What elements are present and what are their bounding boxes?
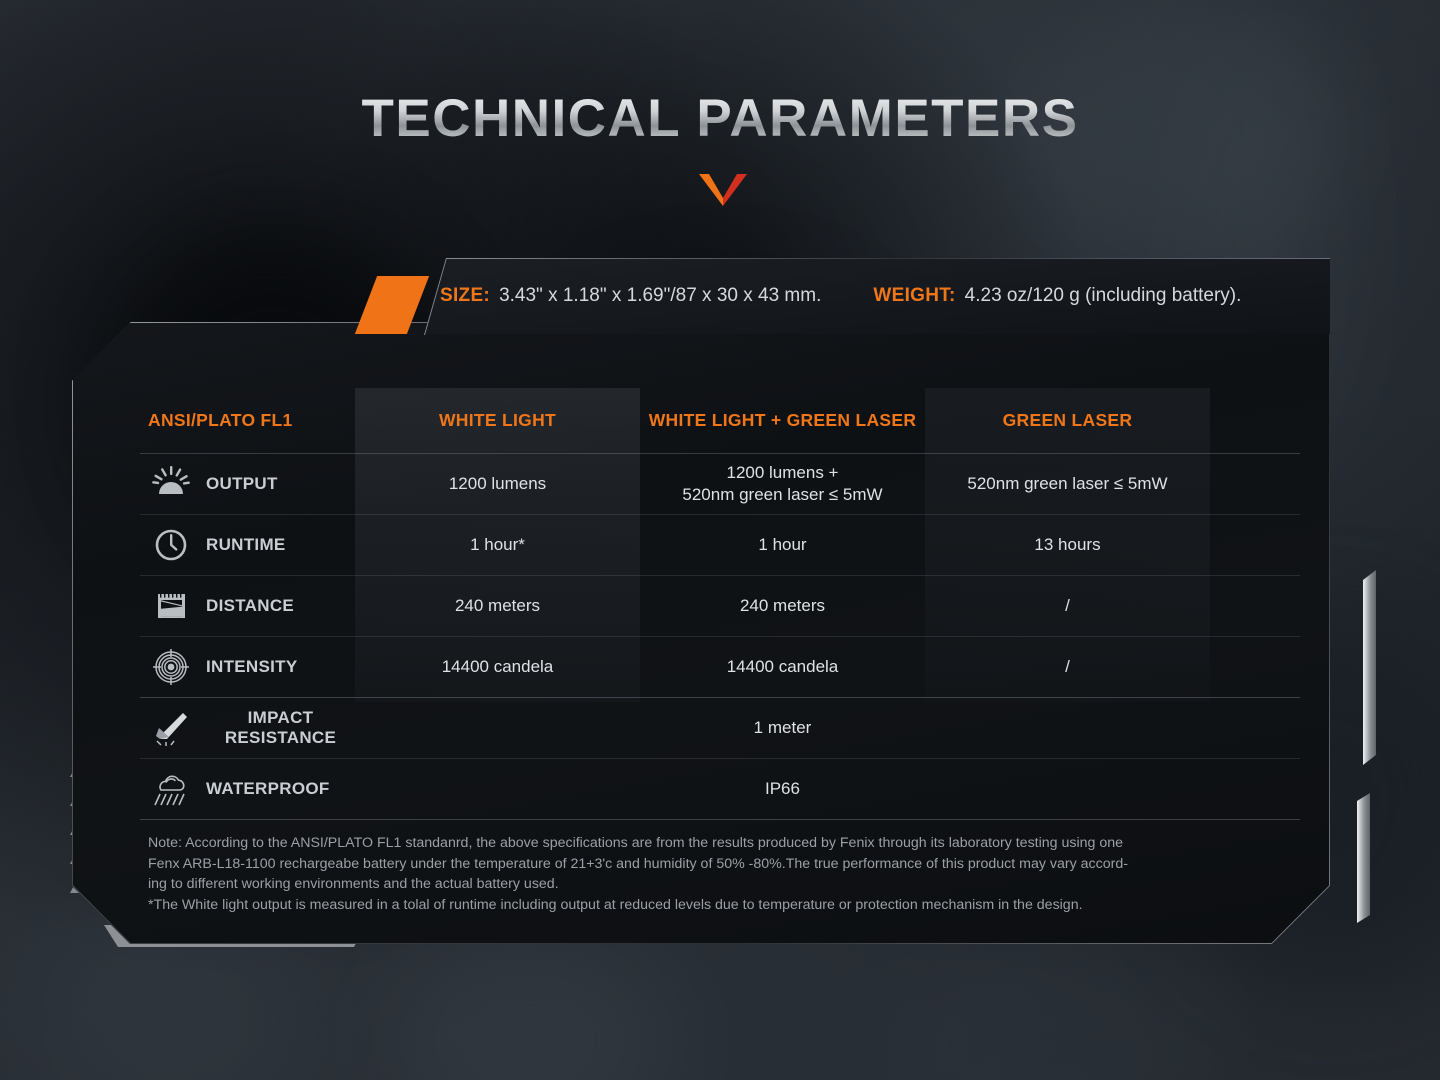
rain-cloud-icon — [150, 769, 192, 809]
decorative-bar-right-lower — [1357, 793, 1370, 923]
row-label-runtime: RUNTIME — [140, 525, 355, 565]
cell-impact-resistance-value: 1 meter — [355, 718, 1210, 738]
row-label-text: RUNTIME — [206, 535, 286, 555]
row-label-waterproof: WATERPROOF — [140, 769, 355, 809]
table-row: IMPACT RESISTANCE 1 meter — [140, 698, 1300, 759]
beam-distance-icon — [150, 586, 192, 626]
footnote-line-4: *The White light output is measured in a… — [148, 895, 1308, 916]
page-title: TECHNICAL PARAMETERS — [361, 88, 1078, 149]
cell-distance-green-laser: / — [925, 596, 1210, 616]
cell-output-green-laser: 520nm green laser ≤ 5mW — [925, 474, 1210, 494]
header-ansi-plato: ANSI/PLATO FL1 — [140, 410, 355, 431]
cell-distance-white-light: 240 meters — [355, 596, 640, 616]
footnote-line-3: ing to different working environments an… — [148, 874, 1308, 895]
footnote: Note: According to the ANSI/PLATO FL1 st… — [148, 833, 1308, 915]
row-label-text: DISTANCE — [206, 596, 294, 616]
row-label-impact-resistance: IMPACT RESISTANCE — [140, 708, 355, 748]
table-row: WATERPROOF IP66 — [140, 759, 1300, 820]
header-white-light: WHITE LIGHT — [355, 410, 640, 431]
row-label-text: OUTPUT — [206, 474, 278, 494]
specs-table: ANSI/PLATO FL1 WHITE LIGHT WHITE LIGHT +… — [140, 388, 1300, 820]
footnote-line-2: Fenx ARB-L18-1100 rechargeabe battery un… — [148, 854, 1308, 875]
sunburst-icon — [150, 464, 192, 504]
decorative-bar-right-upper — [1363, 570, 1376, 765]
cell-line-2: 520nm green laser ≤ 5mW — [682, 484, 882, 506]
table-row: INTENSITY 14400 candela 14400 candela / — [140, 637, 1300, 698]
cell-line-1: 1200 lumens + — [682, 462, 882, 484]
cell-output-white-light: 1200 lumens — [355, 474, 640, 494]
cell-intensity-white-light: 14400 candela — [355, 657, 640, 677]
cell-distance-white-light-green-laser: 240 meters — [640, 596, 925, 616]
row-label-text: IMPACT RESISTANCE — [206, 708, 355, 748]
chevron-down-icon — [699, 172, 747, 206]
size-value: 3.43" x 1.18" x 1.69"/87 x 30 x 43 mm. — [499, 285, 821, 307]
impact-icon — [150, 708, 192, 748]
cell-output-white-light-green-laser: 1200 lumens + 520nm green laser ≤ 5mW — [640, 462, 925, 507]
header-white-light-green-laser: WHITE LIGHT + GREEN LASER — [640, 410, 925, 431]
weight-value: 4.23 oz/120 g (including battery). — [965, 285, 1242, 307]
clock-icon — [150, 525, 192, 565]
cell-intensity-white-light-green-laser: 14400 candela — [640, 657, 925, 677]
table-row: RUNTIME 1 hour* 1 hour 13 hours — [140, 515, 1300, 576]
weight-label: WEIGHT: — [873, 285, 955, 307]
cell-intensity-green-laser: / — [925, 657, 1210, 677]
table-header-row: ANSI/PLATO FL1 WHITE LIGHT WHITE LIGHT +… — [140, 388, 1300, 454]
row-label-distance: DISTANCE — [140, 586, 355, 626]
size-label: SIZE: — [440, 285, 490, 307]
target-intensity-icon — [150, 647, 192, 687]
table-row: OUTPUT 1200 lumens 1200 lumens + 520nm g… — [140, 454, 1300, 515]
page-title-container: TECHNICAL PARAMETERS — [0, 88, 1440, 149]
cell-runtime-white-light: 1 hour* — [355, 535, 640, 555]
row-label-output: OUTPUT — [140, 464, 355, 504]
row-label-text: WATERPROOF — [206, 779, 330, 799]
size-weight-text: SIZE: 3.43" x 1.18" x 1.69"/87 x 30 x 43… — [440, 258, 1330, 334]
row-label-text: INTENSITY — [206, 657, 298, 677]
cell-runtime-green-laser: 13 hours — [925, 535, 1210, 555]
cell-runtime-white-light-green-laser: 1 hour — [640, 535, 925, 555]
header-green-laser: GREEN LASER — [925, 410, 1210, 431]
cell-waterproof-value: IP66 — [355, 779, 1210, 799]
footnote-line-1: Note: According to the ANSI/PLATO FL1 st… — [148, 833, 1308, 854]
row-label-intensity: INTENSITY — [140, 647, 355, 687]
table-row: DISTANCE 240 meters 240 meters / — [140, 576, 1300, 637]
